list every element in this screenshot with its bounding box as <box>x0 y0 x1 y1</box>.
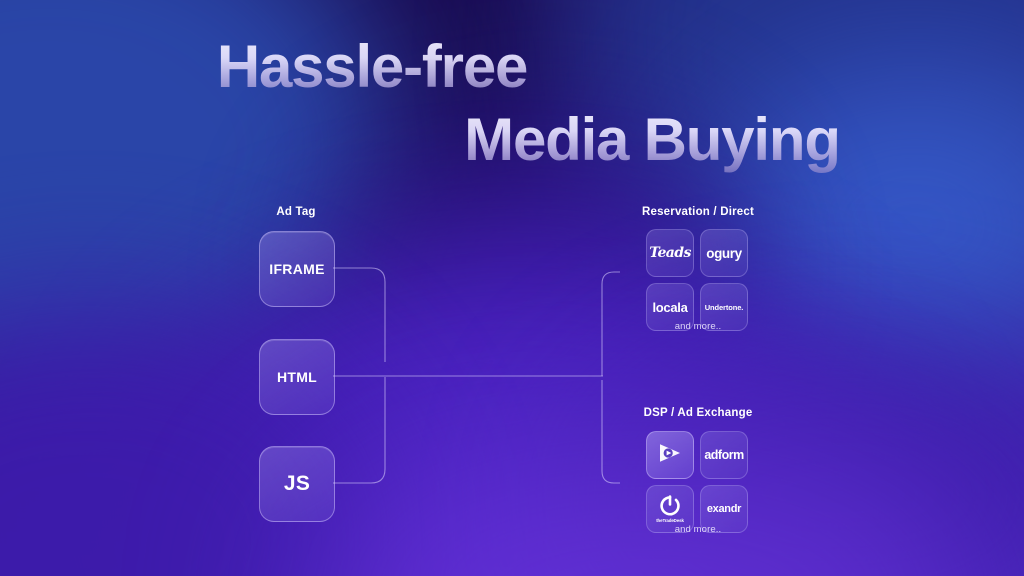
ad-tag-heading: Ad Tag <box>235 206 357 218</box>
dsp-logo-grid: adform theTradeDesk exandr <box>646 431 748 533</box>
ad-tag-box-html[interactable]: HTML <box>259 339 335 415</box>
dsp-and-more-label: and more.. <box>610 524 786 535</box>
ogury-logo: ogury <box>706 246 742 261</box>
slide-canvas: Hassle-free Media Buying Ad Tag IFRAME H… <box>0 0 1024 576</box>
locala-logo: locala <box>652 300 687 315</box>
connector-right-bracket <box>600 270 620 485</box>
reservation-and-more-label: and more.. <box>610 321 786 332</box>
adform-logo: adform <box>704 448 743 462</box>
trade-desk-wordmark: theTradeDesk <box>656 518 684 523</box>
dsp-ad-exchange-heading: DSP / Ad Exchange <box>610 407 786 419</box>
logo-tile-dv360[interactable] <box>646 431 694 479</box>
logo-tile-teads[interactable]: Teads <box>646 229 694 277</box>
ad-tag-box-iframe[interactable]: IFRAME <box>259 231 335 307</box>
logo-tile-ogury[interactable]: ogury <box>700 229 748 277</box>
connector-left-bracket <box>333 225 603 495</box>
dv360-play-logo <box>657 440 683 471</box>
undertone-logo: Undertone. <box>705 303 744 312</box>
reservation-direct-heading: Reservation / Direct <box>610 206 786 218</box>
teads-logo: Teads <box>649 245 690 261</box>
ad-tag-box-js[interactable]: JS <box>259 446 335 522</box>
xandr-logo: exandr <box>707 503 741 515</box>
reservation-logo-grid: Teads ogury locala Undertone. <box>646 229 748 331</box>
logo-tile-adform[interactable]: adform <box>700 431 748 479</box>
trade-desk-logo: theTradeDesk <box>656 495 684 523</box>
flow-diagram: Ad Tag IFRAME HTML JS Reservation / Dire… <box>0 0 1024 576</box>
